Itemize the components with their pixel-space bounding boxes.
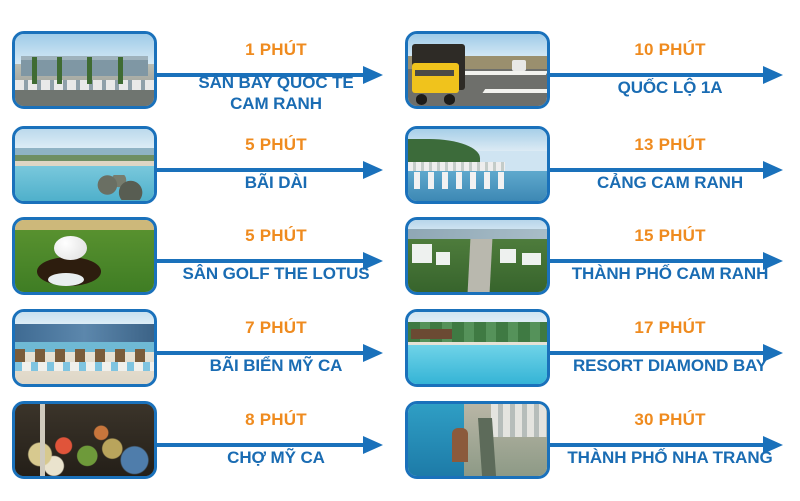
travel-time: 7 PHÚT — [158, 318, 394, 338]
thumbnail-nha-trang-city — [405, 401, 550, 479]
destination-name: SÂN GOLF THE LOTUS — [152, 263, 400, 284]
travel-time: 17 PHÚT — [550, 318, 790, 338]
labels-my-ca-beach: 7 PHÚT BÃI BIỂN MỸ CA — [158, 306, 394, 401]
row-cam-ranh-port: 13 PHÚT CẢNG CAM RANH — [400, 123, 800, 218]
labels-national-highway-1a: 10 PHÚT QUỐC LỘ 1A — [550, 28, 790, 123]
row-cam-ranh-international-airport: 1 PHÚT SÂN BAY QUỐC TẾ CAM RANH — [0, 28, 400, 123]
labels-bai-dai-beach: 5 PHÚT BÃI DÀI — [158, 123, 394, 218]
travel-time: 5 PHÚT — [158, 226, 394, 246]
thumbnail-cam-ranh-city — [405, 217, 550, 295]
left-column: 1 PHÚT SÂN BAY QUỐC TẾ CAM RANH 5 PHÚT B… — [0, 0, 400, 501]
row-nha-trang-city: 30 PHÚT THÀNH PHỐ NHA TRANG — [400, 398, 800, 493]
thumbnail-bai-dai-beach — [12, 126, 157, 204]
labels-nha-trang-city: 30 PHÚT THÀNH PHỐ NHA TRANG — [550, 398, 790, 493]
travel-time: 8 PHÚT — [158, 410, 394, 430]
row-the-lotus-golf-course: 5 PHÚT SÂN GOLF THE LOTUS — [0, 214, 400, 309]
labels-cam-ranh-international-airport: 1 PHÚT SÂN BAY QUỐC TẾ CAM RANH — [158, 28, 394, 123]
thumbnail-cam-ranh-international-airport — [12, 31, 157, 109]
destination-name: THÀNH PHỐ CAM RANH — [544, 263, 796, 284]
thumbnail-national-highway-1a — [405, 31, 550, 109]
travel-time-infographic: 1 PHÚT SÂN BAY QUỐC TẾ CAM RANH 5 PHÚT B… — [0, 0, 800, 501]
row-cam-ranh-city: 15 PHÚT THÀNH PHỐ CAM RANH — [400, 214, 800, 309]
labels-cam-ranh-city: 15 PHÚT THÀNH PHỐ CAM RANH — [550, 214, 790, 309]
row-diamond-bay-resort: 17 PHÚT RESORT DIAMOND BAY — [400, 306, 800, 401]
travel-time: 13 PHÚT — [550, 135, 790, 155]
right-column: 10 PHÚT QUỐC LỘ 1A 13 PHÚT CẢNG CAM RANH — [400, 0, 800, 501]
thumbnail-my-ca-market — [12, 401, 157, 479]
travel-time: 5 PHÚT — [158, 135, 394, 155]
destination-name: SÂN BAY QUỐC TẾ CAM RANH — [152, 72, 400, 114]
destination-name: BÃI DÀI — [152, 172, 400, 193]
labels-diamond-bay-resort: 17 PHÚT RESORT DIAMOND BAY — [550, 306, 790, 401]
row-my-ca-market: 8 PHÚT CHỢ MỸ CA — [0, 398, 400, 493]
row-national-highway-1a: 10 PHÚT QUỐC LỘ 1A — [400, 28, 800, 123]
travel-time: 15 PHÚT — [550, 226, 790, 246]
thumbnail-cam-ranh-port — [405, 126, 550, 204]
thumbnail-the-lotus-golf-course — [12, 217, 157, 295]
thumbnail-my-ca-beach — [12, 309, 157, 387]
destination-name: BÃI BIỂN MỸ CA — [152, 355, 400, 376]
travel-time: 10 PHÚT — [550, 40, 790, 60]
row-my-ca-beach: 7 PHÚT BÃI BIỂN MỸ CA — [0, 306, 400, 401]
travel-time: 1 PHÚT — [158, 40, 394, 60]
row-bai-dai-beach: 5 PHÚT BÃI DÀI — [0, 123, 400, 218]
thumbnail-diamond-bay-resort — [405, 309, 550, 387]
destination-name: CẢNG CAM RANH — [544, 172, 796, 193]
destination-name: CHỢ MỸ CA — [152, 447, 400, 468]
labels-the-lotus-golf-course: 5 PHÚT SÂN GOLF THE LOTUS — [158, 214, 394, 309]
travel-time: 30 PHÚT — [550, 410, 790, 430]
destination-name: THÀNH PHỐ NHA TRANG — [544, 447, 796, 468]
labels-my-ca-market: 8 PHÚT CHỢ MỸ CA — [158, 398, 394, 493]
destination-name: RESORT DIAMOND BAY — [544, 355, 796, 376]
destination-name: QUỐC LỘ 1A — [544, 77, 796, 98]
labels-cam-ranh-port: 13 PHÚT CẢNG CAM RANH — [550, 123, 790, 218]
